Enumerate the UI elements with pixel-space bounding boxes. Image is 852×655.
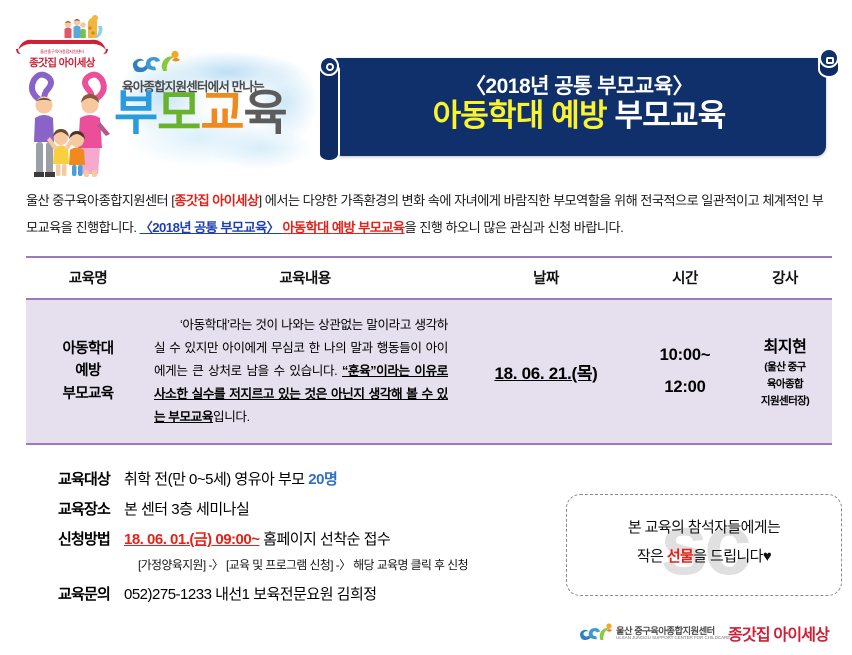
course-name-line-3: 부모교육: [26, 383, 150, 405]
apply-open-datetime: 18. 06. 01.(금) 09:00~: [124, 531, 259, 548]
banner-subtitle: 〈2018년 공통 부모교육〉: [332, 70, 826, 100]
content-plain-2: 입니다.: [213, 410, 250, 424]
table-header-course-name: 교육명: [26, 257, 150, 299]
apply-path-note: [가정양육지원] -〉 [교육 및 프로그램 신청] -〉 해당 교육명 클릭 …: [26, 556, 586, 573]
cell-course-name: 아동학대 예방 부모교육: [26, 299, 150, 444]
gift-line-1: 본 교육의 참석자들에게는: [567, 513, 841, 542]
table-header-course-content: 교육내용: [150, 257, 460, 299]
course-name-line-1: 아동학대: [26, 338, 150, 360]
gift-notice-box: sc 본 교육의 참석자들에게는 작은 선물을 드립니다♥: [566, 494, 842, 596]
footer-jonggatjip-logo: 종갓집 아이세상: [728, 621, 829, 645]
table-header-date: 날짜: [460, 257, 632, 299]
info-row-contact: 교육문의 052)275-1233 내선1 보육전문요원 김희정: [26, 583, 586, 604]
banner-right-curl-icon: [819, 48, 839, 68]
brand-cloud-block: 육아종합지원센터에서 만나는 부모교육: [96, 42, 332, 178]
target-count: 20명: [308, 471, 337, 488]
brand-wordmark: 부모교육: [114, 90, 287, 138]
wordmark-char-2: 모: [157, 87, 200, 140]
info-value-contact: 052)275-1233 내선1 보육전문요원 김희정: [110, 583, 377, 604]
intro-link-red[interactable]: 아동학대 예방 부모교육: [282, 220, 404, 235]
gift-highlight: 선물: [667, 548, 693, 565]
info-label-target: 교육대상: [26, 468, 110, 489]
footer-logos: 울산 중구육아종합지원센터 ULSAN JUNGGU SUPPORT CENTE…: [578, 618, 840, 650]
cell-instructor: 최지현 (울산 중구 육아종합 지원센터장): [738, 299, 832, 444]
intro-part-1: 울산 중구육아종합지원센터 [: [26, 193, 174, 208]
table-row: 아동학대 예방 부모교육 ‘아동학대’라는 것이 나와는 상관없는 말이라고 생…: [26, 299, 832, 444]
intro-link-blue[interactable]: 〈2018년 공통 부모교육〉: [140, 220, 283, 235]
info-label-apply: 신청방법: [26, 528, 110, 549]
cell-time: 10:00~ 12:00: [632, 299, 738, 444]
info-label-place: 교육장소: [26, 498, 110, 519]
sc-childcare-mark-icon-footer: [578, 623, 612, 643]
instructor-org-line-2: 육아종합: [738, 376, 832, 393]
info-row-target: 교육대상 취학 전(만 0~5세) 영유아 부모 20명: [26, 468, 586, 489]
banner-title-rest: 부모교육: [607, 98, 726, 133]
title-banner: 〈2018년 공통 부모교육〉 아동학대 예방 부모교육: [318, 48, 840, 162]
intro-center-name: 종갓집 아이세상: [174, 193, 258, 208]
intro-part-3: 을 진행 하오니 많은 관심과 신청 바랍니다.: [405, 220, 624, 235]
instructor-org-line-1: (울산 중구: [738, 359, 832, 376]
course-time-start: 10:00~: [632, 339, 738, 371]
info-value-target: 취학 전(만 0~5세) 영유아 부모 20명: [110, 468, 337, 489]
heart-icon: ♥: [763, 548, 771, 565]
instructor-name: 최지현: [738, 333, 832, 357]
info-value-place: 본 센터 3층 세미나실: [110, 498, 249, 519]
table-header-row: 교육명 교육내용 날짜 시간 강사: [26, 257, 832, 299]
info-row-place: 교육장소 본 센터 3층 세미나실: [26, 498, 586, 519]
info-row-apply: 신청방법 18. 06. 01.(금) 09:00~ 홈페이지 선착순 접수: [26, 528, 586, 549]
cell-course-content: ‘아동학대’라는 것이 나와는 상관없는 말이라고 생각하실 수 있지만 아이에…: [150, 299, 460, 444]
wordmark-char-4: 육: [244, 87, 287, 140]
course-date: 18. 06. 21.(목): [494, 364, 597, 383]
cell-date: 18. 06. 21.(목): [460, 299, 632, 444]
wordmark-char-3: 교: [200, 87, 243, 140]
table-header-instructor: 강사: [738, 257, 832, 299]
sc-childcare-mark-icon: [130, 50, 184, 76]
info-label-contact: 교육문의: [26, 583, 110, 604]
apply-method-text: 홈페이지 선착순 접수: [259, 531, 390, 548]
table-header-time: 시간: [632, 257, 738, 299]
banner-title-highlight: 아동학대 예방: [433, 98, 607, 133]
target-text: 취학 전(만 0~5세) 영유아 부모: [124, 471, 308, 488]
gift-line-2: 작은 선물을 드립니다♥: [567, 542, 841, 571]
course-name-line-2: 예방: [26, 360, 150, 382]
course-time-end: 12:00: [632, 371, 738, 403]
info-list: 교육대상 취학 전(만 0~5세) 영유아 부모 20명 교육장소 본 센터 3…: [26, 468, 586, 613]
gift-notice-text: 본 교육의 참석자들에게는 작은 선물을 드립니다♥: [567, 513, 841, 572]
course-table: 교육명 교육내용 날짜 시간 강사 아동학대 예방 부모교육 ‘아동학대’라는 …: [26, 256, 832, 445]
instructor-org-line-3: 지원센터장): [738, 393, 832, 410]
intro-paragraph: 울산 중구육아종합지원센터 [종갓집 아이세상] 에서는 다양한 가족환경의 변…: [26, 188, 832, 242]
footer-center-name-en: ULSAN JUNGGU SUPPORT CENTER FOR CHILDCAR…: [616, 635, 730, 640]
gift-line-2-pre: 작은: [637, 548, 667, 565]
gift-line-2-post: 을 드립니다: [693, 548, 763, 565]
family-illustration-icon: [14, 70, 124, 182]
banner-title: 아동학대 예방 부모교육: [332, 97, 826, 136]
info-value-apply: 18. 06. 01.(금) 09:00~ 홈페이지 선착순 접수: [110, 528, 390, 549]
